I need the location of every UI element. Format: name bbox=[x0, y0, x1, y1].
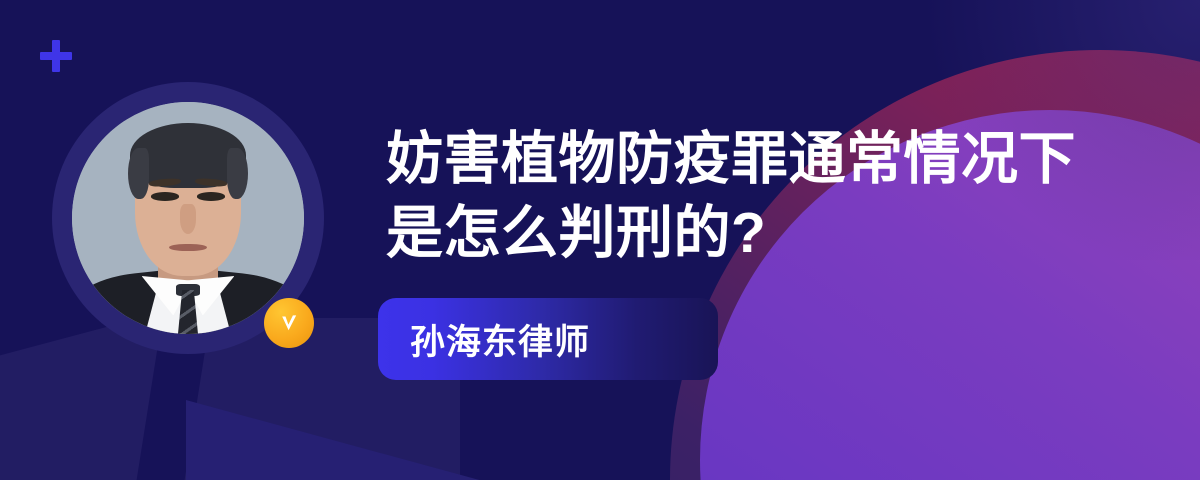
portrait-nose bbox=[180, 204, 196, 234]
portrait-hair-left bbox=[128, 148, 149, 199]
portrait-mouth bbox=[169, 244, 206, 252]
portrait-eye-right bbox=[197, 192, 225, 200]
qa-banner: 妨害植物防疫罪通常情况下是怎么判刑的? 孙海东律师 bbox=[0, 0, 1200, 480]
plus-icon bbox=[40, 40, 72, 72]
portrait-eye-left bbox=[151, 192, 179, 200]
avatar-photo bbox=[72, 102, 304, 334]
page-title: 妨害植物防疫罪通常情况下是怎么判刑的? bbox=[386, 122, 1086, 270]
author-name-label: 孙海东律师 bbox=[378, 314, 590, 365]
polygon-shape-wedge bbox=[186, 400, 516, 480]
author-name-badge[interactable]: 孙海东律师 bbox=[378, 298, 718, 380]
avatar bbox=[52, 82, 324, 354]
verified-badge-icon bbox=[264, 298, 314, 348]
